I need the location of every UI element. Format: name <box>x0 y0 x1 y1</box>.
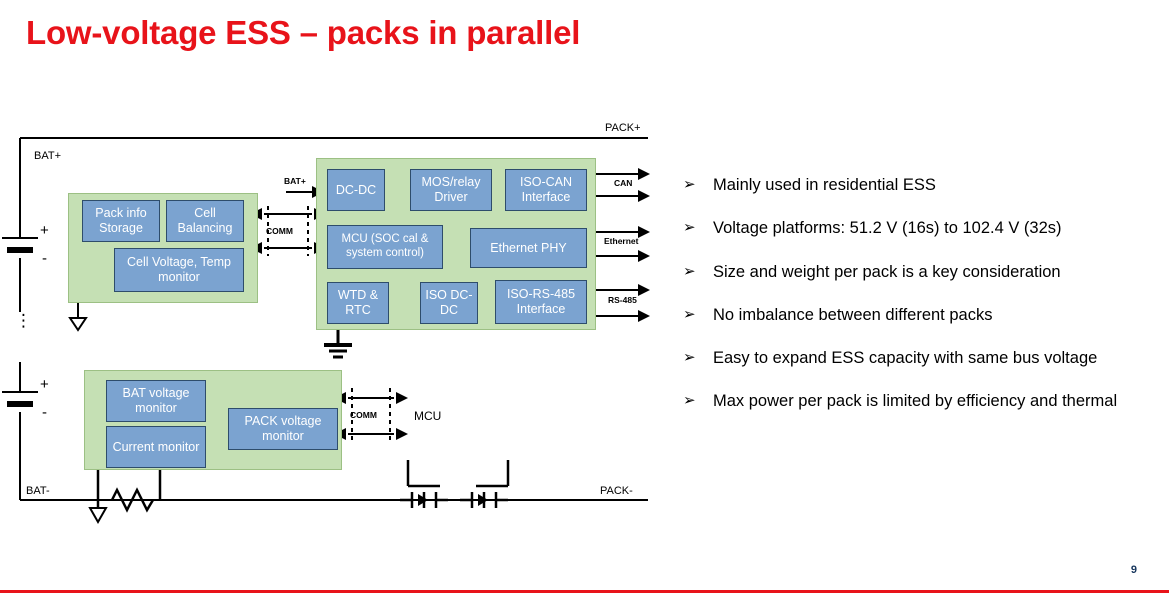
block-ethernet-phy[interactable]: Ethernet PHY <box>470 228 587 268</box>
label-mcu: MCU <box>414 409 441 423</box>
bullet-marker-icon: ➢ <box>683 347 713 367</box>
ground-arrow-bms <box>70 302 86 330</box>
label-battery-plus-2: + <box>40 376 49 393</box>
bullet-marker-icon: ➢ <box>683 217 713 237</box>
feature-bullet-list: ➢ Mainly used in residential ESS ➢ Volta… <box>683 174 1153 434</box>
shunt-resistor <box>90 470 160 522</box>
list-item: ➢ Mainly used in residential ESS <box>683 174 1153 196</box>
bullet-text: Mainly used in residential ESS <box>713 174 936 196</box>
bullet-marker-icon: ➢ <box>683 261 713 281</box>
label-signal-can: CAN <box>614 178 632 188</box>
block-bat-voltage-monitor[interactable]: BAT voltage monitor <box>106 380 206 422</box>
block-pack-info-storage[interactable]: Pack info Storage <box>82 200 160 242</box>
label-signal-ethernet: Ethernet <box>604 236 638 246</box>
bullet-marker-icon: ➢ <box>683 390 713 410</box>
footer-rule <box>0 590 1169 593</box>
label-battery-plus-1: + <box>40 222 49 239</box>
block-mos-relay-driver[interactable]: MOS/relay Driver <box>410 169 492 211</box>
label-pack-continuation: ⋮ <box>15 316 32 326</box>
page-number: 9 <box>1131 564 1137 576</box>
label-battery-minus-1: - <box>42 250 47 267</box>
label-bat-minus: BAT- <box>26 485 50 497</box>
label-battery-minus-2: - <box>42 404 47 421</box>
page-title: Low-voltage ESS – packs in parallel <box>26 14 580 52</box>
mosfet-pair-1 <box>400 460 448 508</box>
label-pack-plus: PACK+ <box>605 122 641 134</box>
label-pack-minus: PACK- <box>600 485 633 497</box>
label-comm-lower: COMM <box>350 410 377 420</box>
battery-symbol-2 <box>2 392 38 404</box>
block-wtd-rtc[interactable]: WTD & RTC <box>327 282 389 324</box>
earth-ground-control <box>324 330 352 357</box>
list-item: ➢ Max power per pack is limited by effic… <box>683 390 1153 412</box>
list-item: ➢ No imbalance between different packs <box>683 304 1153 326</box>
bullet-text: Max power per pack is limited by efficie… <box>713 390 1117 412</box>
block-current-monitor[interactable]: Current monitor <box>106 426 206 468</box>
bullet-text: Easy to expand ESS capacity with same bu… <box>713 347 1097 369</box>
block-iso-rs485-interface[interactable]: ISO-RS-485 Interface <box>495 280 587 324</box>
block-mcu-soc-system-control[interactable]: MCU (SOC cal & system control) <box>327 225 443 269</box>
label-bat-plus: BAT+ <box>34 150 61 162</box>
bullet-marker-icon: ➢ <box>683 304 713 324</box>
mosfet-pair-2 <box>460 460 508 508</box>
block-dc-dc[interactable]: DC-DC <box>327 169 385 211</box>
label-signal-rs485: RS-485 <box>608 295 637 305</box>
block-pack-voltage-monitor[interactable]: PACK voltage monitor <box>228 408 338 450</box>
list-item: ➢ Easy to expand ESS capacity with same … <box>683 347 1153 369</box>
list-item: ➢ Voltage platforms: 51.2 V (16s) to 102… <box>683 217 1153 239</box>
label-comm-upper: COMM <box>266 226 293 236</box>
battery-symbol-1 <box>2 238 38 250</box>
bullet-marker-icon: ➢ <box>683 174 713 194</box>
bullet-text: Size and weight per pack is a key consid… <box>713 261 1061 283</box>
bullet-text: Voltage platforms: 51.2 V (16s) to 102.4… <box>713 217 1062 239</box>
bullet-text: No imbalance between different packs <box>713 304 992 326</box>
block-cell-voltage-temp-monitor[interactable]: Cell Voltage, Temp monitor <box>114 248 244 292</box>
label-bat-plus-input: BAT+ <box>284 176 306 186</box>
list-item: ➢ Size and weight per pack is a key cons… <box>683 261 1153 283</box>
block-iso-can-interface[interactable]: ISO-CAN Interface <box>505 169 587 211</box>
ess-architecture-diagram: Pack info Storage Cell Balancing Cell Vo… <box>0 130 680 550</box>
block-iso-dc-dc[interactable]: ISO DC-DC <box>420 282 478 324</box>
block-cell-balancing[interactable]: Cell Balancing <box>166 200 244 242</box>
